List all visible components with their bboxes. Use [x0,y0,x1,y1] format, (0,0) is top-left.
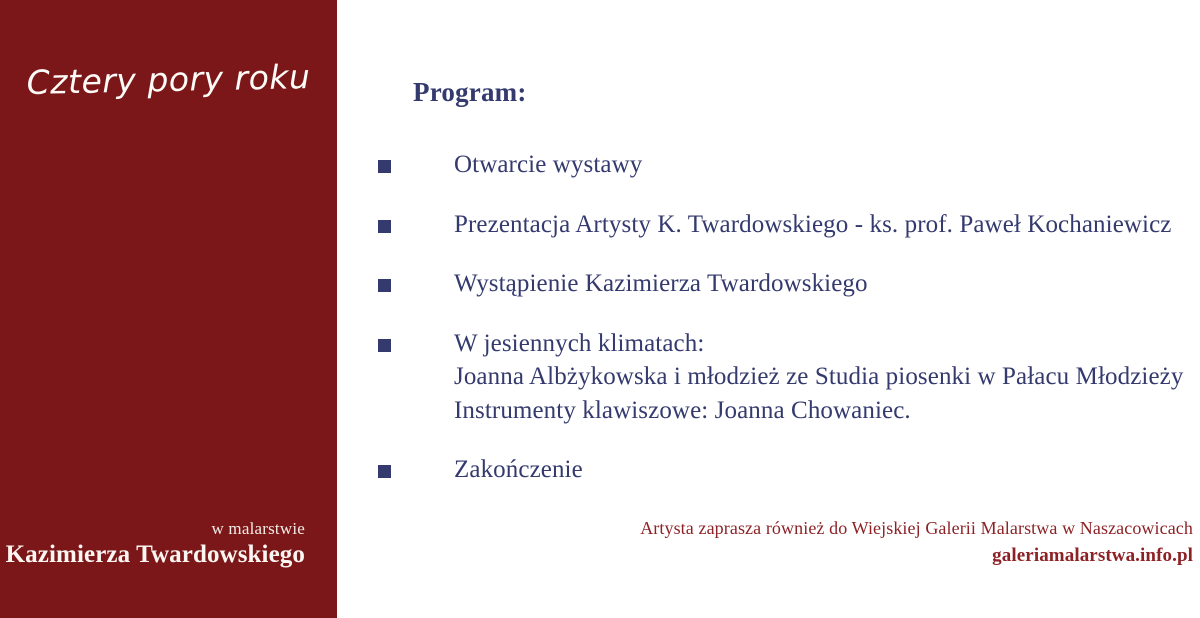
credit-prefix-label: w malarstwie [6,518,305,539]
gallery-website-link[interactable]: galeriamalarstwa.info.pl [640,543,1193,570]
square-bullet-icon [378,279,391,292]
program-heading: Program: [413,77,527,108]
list-item: Otwarcie wystawy [378,148,1178,182]
poster-canvas: Cztery pory roku w malarstwie Kazimierza… [0,0,1200,618]
list-item-label: W jesiennych klimatach: [454,327,1178,361]
program-list: Otwarcie wystawy Prezentacja Artysty K. … [378,148,1178,513]
list-item: Zakończenie [378,453,1178,487]
footer-block: Artysta zaprasza również do Wiejskiej Ga… [640,515,1193,570]
list-item: Wystąpienie Kazimierza Twardowskiego [378,267,1178,301]
artist-credit-block: w malarstwie Kazimierza Twardowskiego [6,518,305,570]
square-bullet-icon [378,465,391,478]
list-item: W jesiennych klimatach: Joanna Albżykows… [378,327,1178,428]
list-item-subline: Joanna Albżykowska i młodzież ze Studia … [454,360,1178,394]
artist-name-label: Kazimierza Twardowskiego [6,540,305,570]
square-bullet-icon [378,220,391,233]
list-item-subline: Instrumenty klawiszowe: Joanna Chowaniec… [454,394,1178,428]
list-item-label: Otwarcie wystawy [454,148,1178,182]
poster-title: Cztery pory roku [0,58,337,101]
left-red-panel: Cztery pory roku w malarstwie Kazimierza… [0,0,337,618]
list-item-label: Prezentacja Artysty K. Twardowskiego - k… [454,208,1178,242]
list-item-label: Wystąpienie Kazimierza Twardowskiego [454,267,1178,301]
list-item-label: Zakończenie [454,453,1178,487]
list-item: Prezentacja Artysty K. Twardowskiego - k… [378,208,1178,242]
gallery-invitation-text: Artysta zaprasza również do Wiejskiej Ga… [640,515,1193,541]
square-bullet-icon [378,339,391,352]
square-bullet-icon [378,160,391,173]
right-content-panel: Program: Otwarcie wystawy Prezentacja Ar… [337,0,1200,618]
